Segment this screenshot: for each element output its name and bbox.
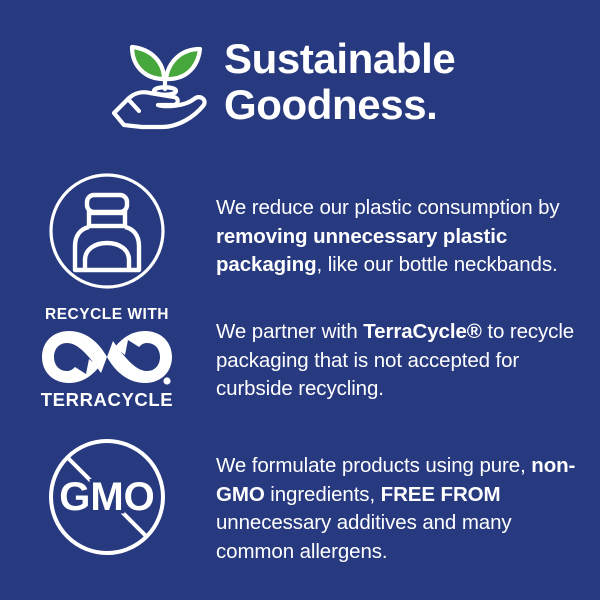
terracycle-bottom-label: TERRACYCLE <box>41 389 173 410</box>
feature-text-non-gmo: We formulate products using pure, non-GM… <box>216 438 600 566</box>
feature-row-non-gmo: GMO We formulate products using pure, no… <box>0 438 600 566</box>
feature-icon-cell <box>0 172 216 290</box>
feature-text-terracycle: We partner with TerraCycle® to recycle p… <box>216 306 600 404</box>
page-title: Sustainable Goodness. <box>224 36 455 128</box>
no-gmo-icon: GMO <box>48 438 166 556</box>
page-header: Sustainable Goodness. <box>0 26 600 138</box>
page-title-line-1: Sustainable <box>224 36 455 82</box>
page-title-line-2: Goodness. <box>224 82 455 128</box>
terracycle-top-label: RECYCLE WITH <box>45 306 169 324</box>
hand-holding-plant-icon <box>112 33 216 131</box>
terracycle-logo: RECYCLE WITH TERRACYCLE <box>37 306 177 410</box>
terracycle-infinity-icon <box>39 327 175 387</box>
feature-icon-cell: GMO <box>0 438 216 556</box>
bottle-in-circle-icon <box>48 172 166 290</box>
no-gmo-label: GMO <box>59 475 155 519</box>
feature-icon-cell: RECYCLE WITH TERRACYCLE <box>0 306 216 410</box>
sustainability-infographic: Sustainable Goodness. We reduce our plas… <box>0 0 600 600</box>
feature-text-plastic-reduction: We reduce our plastic consumption by rem… <box>216 172 600 280</box>
feature-row-terracycle: RECYCLE WITH TERRACYCLE We partner with … <box>0 306 600 410</box>
feature-row-plastic-reduction: We reduce our plastic consumption by rem… <box>0 172 600 290</box>
